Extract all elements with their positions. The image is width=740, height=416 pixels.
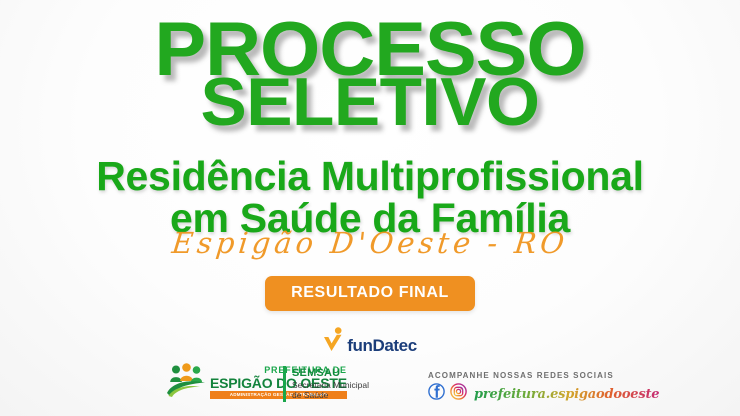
poster-canvas: PROCESSO SELETIVO Residência Multiprofis… <box>0 0 740 416</box>
result-badge-wrap: RESULTADO FINAL <box>0 276 740 311</box>
footer-bar: PREFEITURA DE ESPIGÃO DO OESTE ADMINISTR… <box>0 362 740 412</box>
semsau-logo: SEMSAU Secretaria Municipal de Saúde <box>292 367 369 400</box>
social-row: prefeitura.espigaodooeste <box>428 383 659 405</box>
headline-block: PROCESSO SELETIVO <box>0 18 740 131</box>
organizer-logo-block: funDatec <box>0 327 740 358</box>
subtitle-line-1: Residência Multiprofissional <box>0 156 740 198</box>
social-block: ACOMPANHE NOSSAS REDES SOCIAIS <box>428 371 659 405</box>
location-script-text: Espigão D'Oeste - RO <box>170 226 570 260</box>
social-handle[interactable]: prefeitura.espigaodooeste <box>472 387 659 402</box>
semsau-line-2: de Saúde <box>292 390 369 400</box>
status-badge[interactable]: RESULTADO FINAL <box>265 276 475 311</box>
location-script-block: Espigão D'Oeste - RO <box>0 226 740 260</box>
semsau-line-1: Secretaria Municipal <box>292 380 369 390</box>
fundatec-logo: funDatec <box>323 327 417 358</box>
prefeitura-emblem-icon <box>166 362 206 403</box>
social-title: ACOMPANHE NOSSAS REDES SOCIAIS <box>428 371 659 380</box>
facebook-icon[interactable] <box>428 383 445 405</box>
fundatec-mark-icon <box>323 327 345 358</box>
footer-divider <box>283 366 286 402</box>
semsau-acronym: SEMSAU <box>292 367 369 380</box>
fundatec-wordmark: funDatec <box>347 336 417 356</box>
instagram-icon[interactable] <box>450 383 467 405</box>
headline-line-2: SELETIVO <box>0 74 740 131</box>
